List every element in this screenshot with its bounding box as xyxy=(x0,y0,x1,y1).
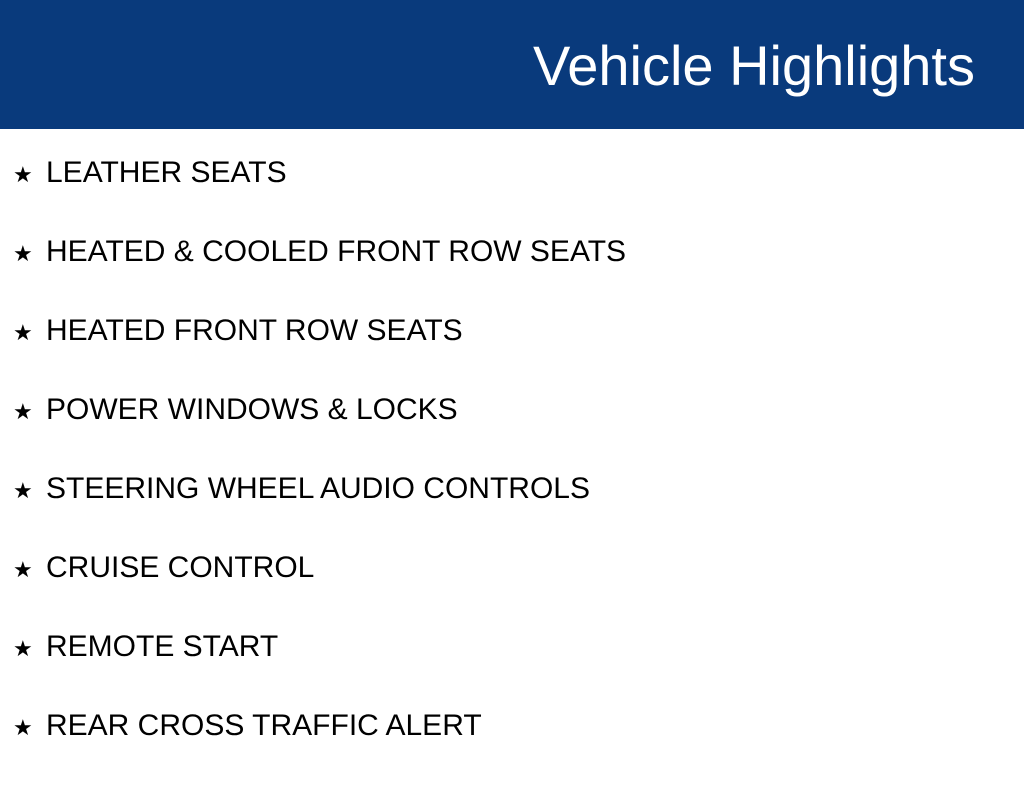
header-banner: Vehicle Highlights xyxy=(0,0,1024,129)
page-title: Vehicle Highlights xyxy=(533,38,975,94)
highlight-label: REMOTE START xyxy=(46,632,278,662)
highlight-label: LEATHER SEATS xyxy=(46,158,287,188)
highlight-label: HEATED FRONT ROW SEATS xyxy=(46,316,463,346)
highlight-label: REAR CROSS TRAFFIC ALERT xyxy=(46,711,482,741)
highlight-label: CRUISE CONTROL xyxy=(46,553,314,583)
highlight-label: POWER WINDOWS & LOCKS xyxy=(46,395,458,425)
list-item: ★ HEATED FRONT ROW SEATS xyxy=(0,316,1024,395)
list-item: ★ REAR CROSS TRAFFIC ALERT xyxy=(0,711,1024,790)
list-item: ★ HEATED & COOLED FRONT ROW SEATS xyxy=(0,237,1024,316)
vehicle-highlights-slide: Vehicle Highlights ★ LEATHER SEATS ★ HEA… xyxy=(0,0,1024,768)
star-icon: ★ xyxy=(13,718,46,740)
list-item: ★ CRUISE CONTROL xyxy=(0,553,1024,632)
star-icon: ★ xyxy=(13,165,46,187)
star-icon: ★ xyxy=(13,560,46,582)
list-item: ★ STEERING WHEEL AUDIO CONTROLS xyxy=(0,474,1024,553)
star-icon: ★ xyxy=(13,244,46,266)
list-item: ★ LEATHER SEATS xyxy=(0,129,1024,237)
star-icon: ★ xyxy=(13,481,46,503)
list-item: ★ POWER WINDOWS & LOCKS xyxy=(0,395,1024,474)
star-icon: ★ xyxy=(13,323,46,345)
star-icon: ★ xyxy=(13,402,46,424)
vehicle-highlights-list: ★ LEATHER SEATS ★ HEATED & COOLED FRONT … xyxy=(0,129,1024,790)
highlight-label: HEATED & COOLED FRONT ROW SEATS xyxy=(46,237,626,267)
highlight-label: STEERING WHEEL AUDIO CONTROLS xyxy=(46,474,590,504)
star-icon: ★ xyxy=(13,639,46,661)
list-item: ★ REMOTE START xyxy=(0,632,1024,711)
